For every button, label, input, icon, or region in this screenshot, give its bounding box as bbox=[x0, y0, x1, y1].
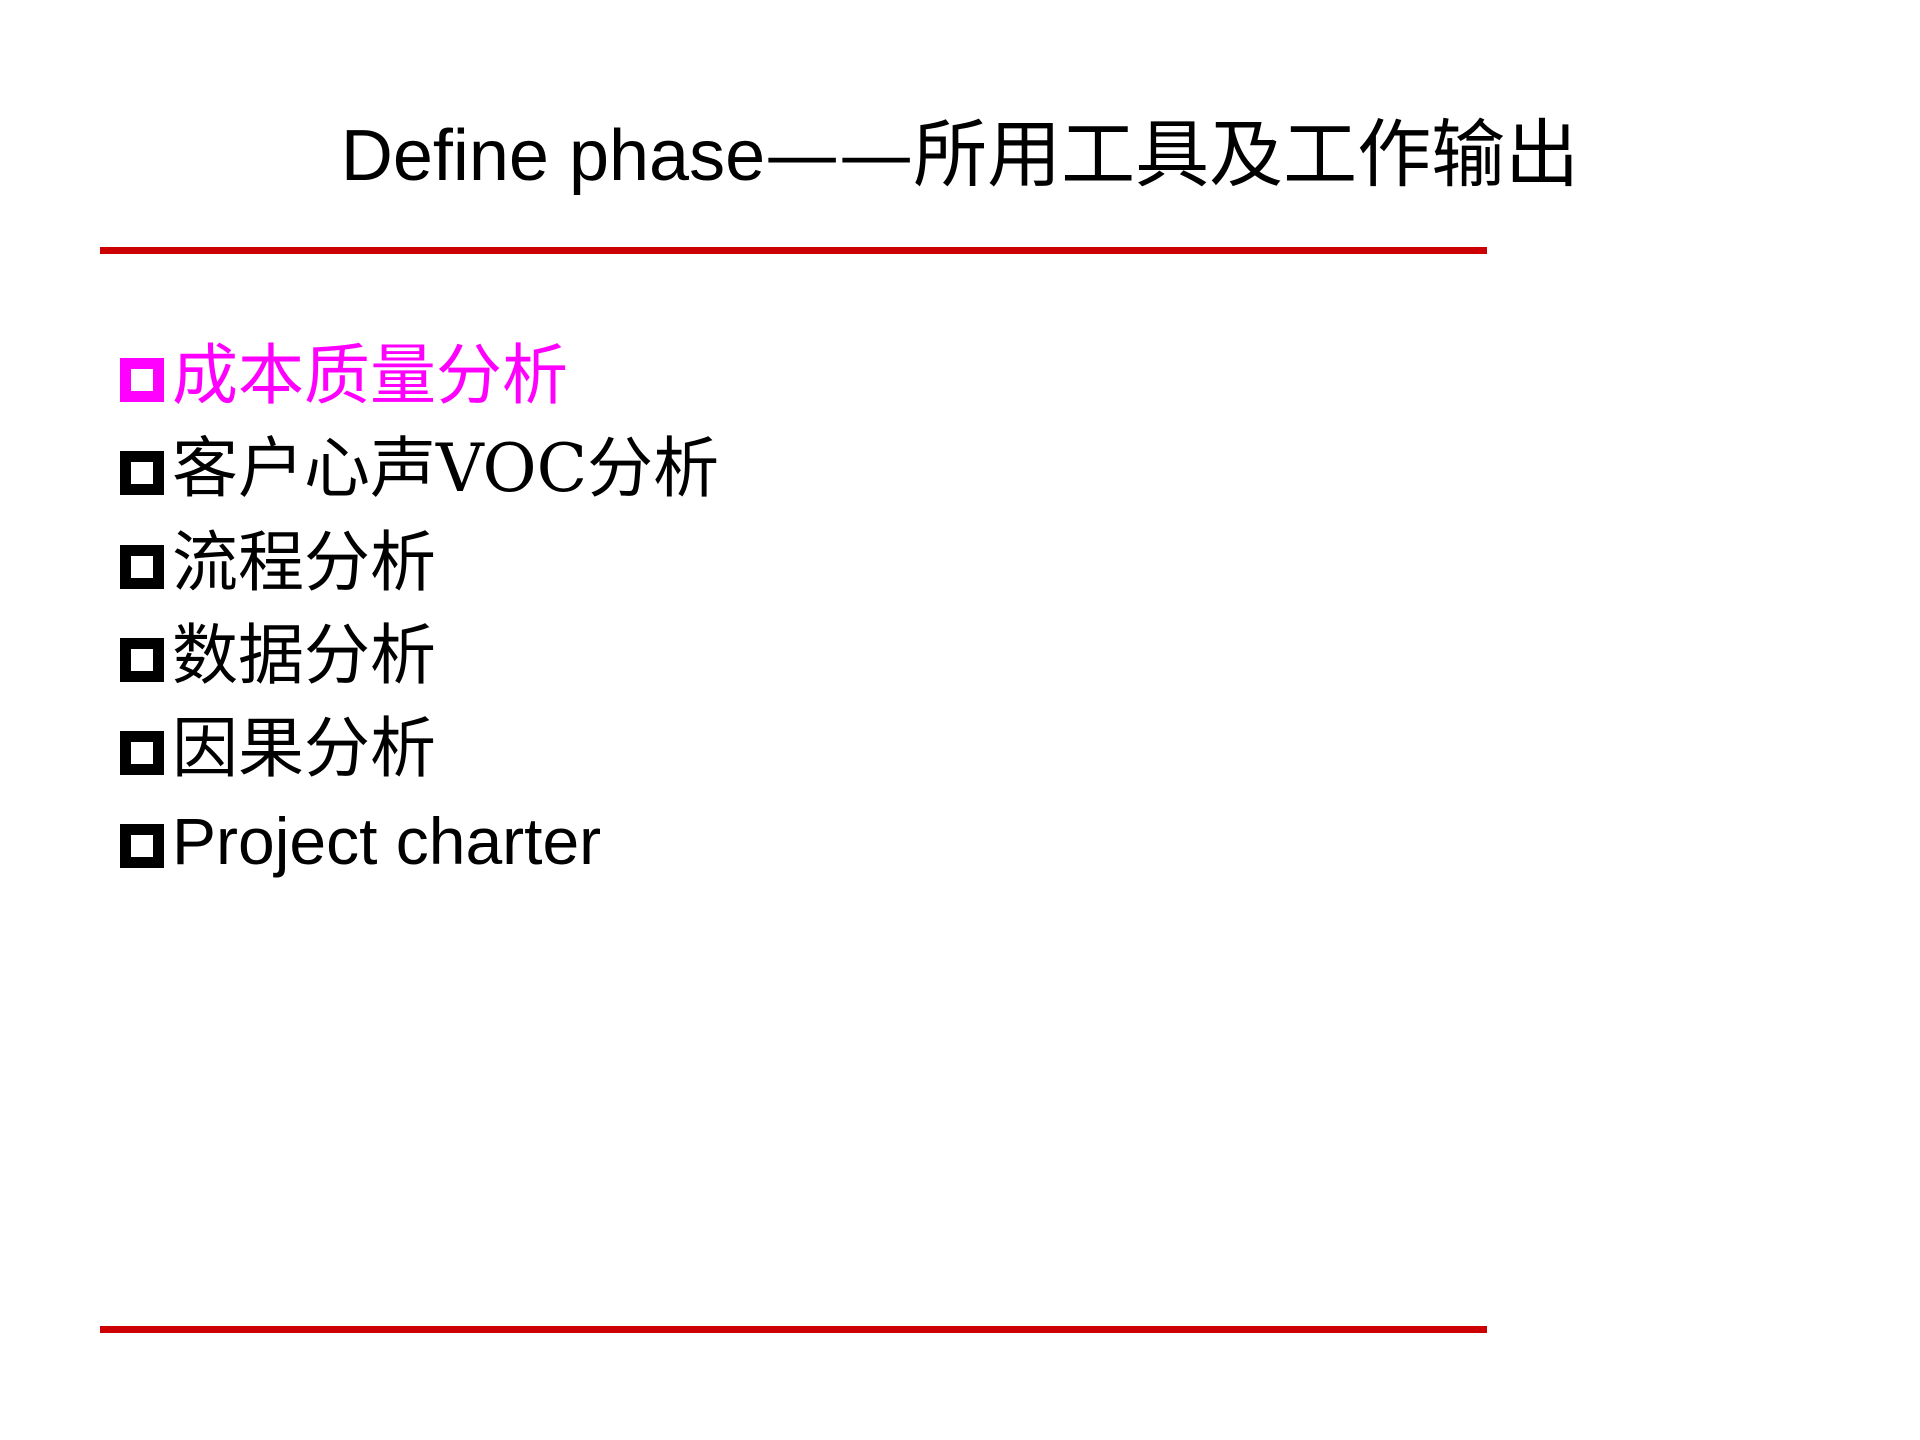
page-title-cjk: 所用工具及工作输出 bbox=[913, 112, 1579, 198]
list-item[interactable]: 因果分析 bbox=[120, 713, 1720, 784]
square-bullet-icon bbox=[120, 638, 164, 682]
square-bullet-icon bbox=[120, 824, 164, 868]
page-title-latin: Define phase bbox=[341, 116, 765, 196]
list-item[interactable]: 流程分析 bbox=[120, 527, 1720, 598]
square-bullet-icon bbox=[120, 545, 164, 589]
title-area: Define phase——所用工具及工作输出 bbox=[0, 118, 1920, 192]
list-item[interactable]: 成本质量分析 bbox=[120, 340, 1720, 411]
list-item[interactable]: Project charter bbox=[120, 806, 1720, 877]
page-title: Define phase——所用工具及工作输出 bbox=[341, 118, 1579, 192]
list-item[interactable]: 数据分析 bbox=[120, 620, 1720, 691]
list-item-label: 流程分析 bbox=[164, 527, 436, 598]
list-item-label: 成本质量分析 bbox=[164, 340, 568, 411]
list-item-label: 客户心声VOC分析 bbox=[164, 433, 719, 504]
list-item-label: 数据分析 bbox=[164, 620, 436, 691]
list-item-label: Project charter bbox=[164, 806, 601, 877]
footer-divider-rule bbox=[100, 1326, 1487, 1333]
page-title-dash: —— bbox=[765, 112, 913, 198]
square-bullet-icon bbox=[120, 358, 164, 402]
list-item[interactable]: 客户心声VOC分析 bbox=[120, 433, 1720, 504]
list-item-label: 因果分析 bbox=[164, 713, 436, 784]
slide-canvas: Define phase——所用工具及工作输出 成本质量分析 客户心声VOC分析… bbox=[0, 0, 1920, 1440]
square-bullet-icon bbox=[120, 731, 164, 775]
square-bullet-icon bbox=[120, 451, 164, 495]
title-divider-rule bbox=[100, 247, 1487, 254]
tools-outputs-list: 成本质量分析 客户心声VOC分析 流程分析 数据分析 因果分析 Project … bbox=[120, 340, 1720, 878]
